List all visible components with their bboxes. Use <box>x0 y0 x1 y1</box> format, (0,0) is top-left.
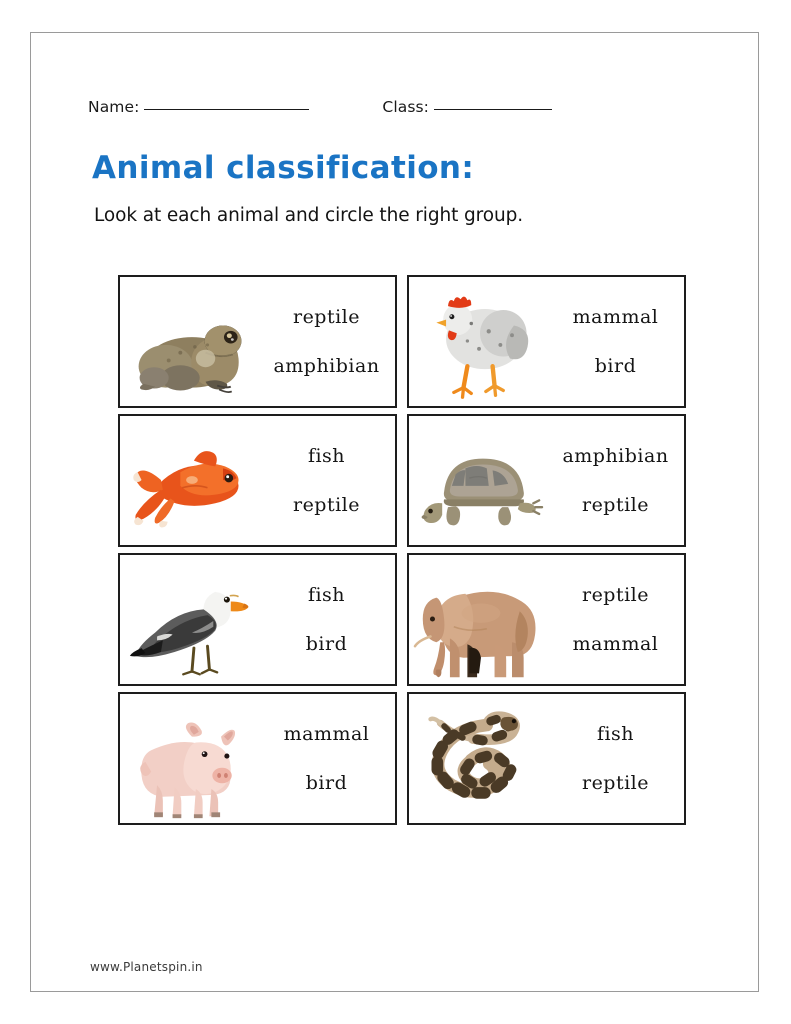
question-box[interactable]: reptile mammal <box>407 553 686 686</box>
snake-icon <box>409 694 551 823</box>
question-grid: reptile amphibian <box>118 275 686 831</box>
option-item[interactable]: fish <box>597 725 634 744</box>
option-group: mammal bird <box>262 694 395 823</box>
page-title: Animal classification: <box>92 150 474 186</box>
option-item[interactable]: reptile <box>582 774 649 793</box>
question-box[interactable]: mammal bird <box>118 692 397 825</box>
name-input-line[interactable] <box>144 109 309 110</box>
option-item[interactable]: amphibian <box>562 447 668 466</box>
option-group: amphibian reptile <box>551 416 684 545</box>
pig-icon <box>120 694 262 823</box>
goldfish-icon <box>120 416 262 545</box>
option-item[interactable]: reptile <box>582 586 649 605</box>
option-item[interactable]: mammal <box>573 308 659 327</box>
question-box[interactable]: amphibian reptile <box>407 414 686 547</box>
seagull-icon <box>120 555 262 684</box>
question-box[interactable]: fish bird <box>118 553 397 686</box>
toad-icon <box>120 277 262 406</box>
option-item[interactable]: amphibian <box>273 357 379 376</box>
option-group: fish reptile <box>262 416 395 545</box>
question-row: fish reptile <box>118 414 686 547</box>
question-box[interactable]: mammal bird <box>407 275 686 408</box>
elephant-icon <box>409 555 551 684</box>
option-item[interactable]: bird <box>306 774 347 793</box>
question-box[interactable]: fish reptile <box>118 414 397 547</box>
option-item[interactable]: mammal <box>284 725 370 744</box>
chicken-icon <box>409 277 551 406</box>
option-item[interactable]: fish <box>308 447 345 466</box>
option-item[interactable]: reptile <box>582 496 649 515</box>
class-input-line[interactable] <box>434 109 552 110</box>
class-label: Class: <box>382 98 429 116</box>
option-item[interactable]: reptile <box>293 496 360 515</box>
tortoise-icon <box>409 416 551 545</box>
option-group: reptile mammal <box>551 555 684 684</box>
question-box[interactable]: fish reptile <box>407 692 686 825</box>
option-item[interactable]: bird <box>306 635 347 654</box>
question-box[interactable]: reptile amphibian <box>118 275 397 408</box>
option-item[interactable]: mammal <box>573 635 659 654</box>
instructions-text: Look at each animal and circle the right… <box>94 205 523 226</box>
student-info-row: Name: Class: <box>88 98 688 122</box>
question-row: reptile amphibian <box>118 275 686 408</box>
option-group: fish bird <box>262 555 395 684</box>
question-row: mammal bird <box>118 692 686 825</box>
option-item[interactable]: fish <box>308 586 345 605</box>
option-item[interactable]: bird <box>595 357 636 376</box>
name-label: Name: <box>88 98 139 116</box>
question-row: fish bird <box>118 553 686 686</box>
option-group: reptile amphibian <box>262 277 395 406</box>
option-group: mammal bird <box>551 277 684 406</box>
option-item[interactable]: reptile <box>293 308 360 327</box>
option-group: fish reptile <box>551 694 684 823</box>
footer-site-label: www.Planetspin.in <box>90 960 203 974</box>
